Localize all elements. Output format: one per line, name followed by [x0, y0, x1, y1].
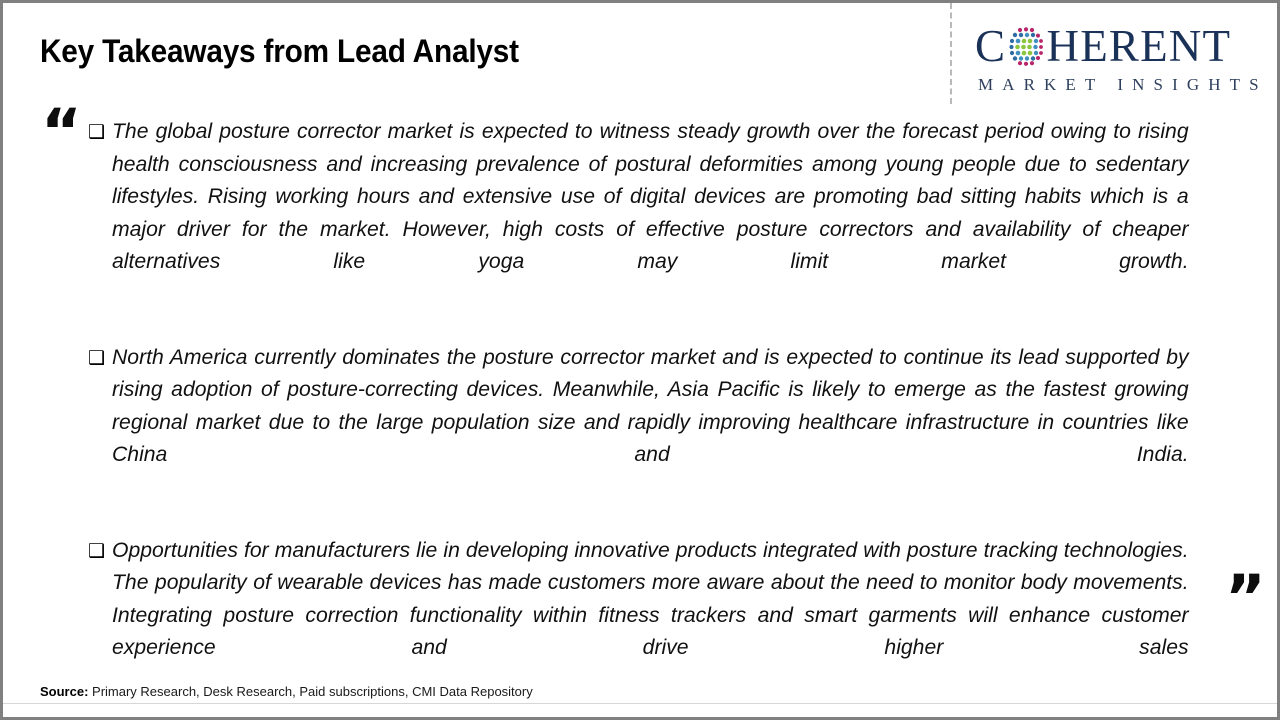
slide-footer: Source: Primary Research, Desk Research,… [3, 669, 1277, 717]
slide: Key Takeaways from Lead Analyst C [0, 0, 1280, 720]
page-title: Key Takeaways from Lead Analyst [40, 33, 519, 70]
header-divider [950, 3, 952, 104]
logo-wordmark: C [975, 21, 1270, 71]
takeaways-list: ❑ The global posture corrector market is… [88, 115, 1205, 697]
source-line: Source: Primary Research, Desk Research,… [40, 684, 533, 699]
square-bullet-icon: ❑ [88, 117, 105, 147]
takeaway-item: ❑ North America currently dominates the … [88, 341, 1205, 504]
close-quote-icon: ” [1225, 579, 1264, 616]
logo-letters-herent: HERENT [1047, 24, 1232, 69]
logo-letter-c: C [975, 24, 1006, 69]
slide-header: Key Takeaways from Lead Analyst C [3, 3, 1277, 107]
square-bullet-icon: ❑ [88, 343, 105, 373]
source-label: Source: [40, 684, 88, 699]
open-quote-icon: “ [41, 113, 80, 150]
logo-subtitle: MARKET INSIGHTS [978, 75, 1268, 95]
takeaway-text: North America currently dominates the po… [112, 341, 1189, 504]
globe-icon [1008, 26, 1044, 66]
takeaway-item: ❑ The global posture corrector market is… [88, 115, 1205, 311]
square-bullet-icon: ❑ [88, 536, 105, 566]
takeaway-text: The global posture corrector market is e… [112, 115, 1189, 311]
coherent-market-insights-logo: C [975, 21, 1270, 99]
footer-divider [3, 703, 1277, 704]
slide-body: “ ❑ The global posture corrector market … [3, 107, 1280, 673]
source-value: Primary Research, Desk Research, Paid su… [88, 684, 532, 699]
